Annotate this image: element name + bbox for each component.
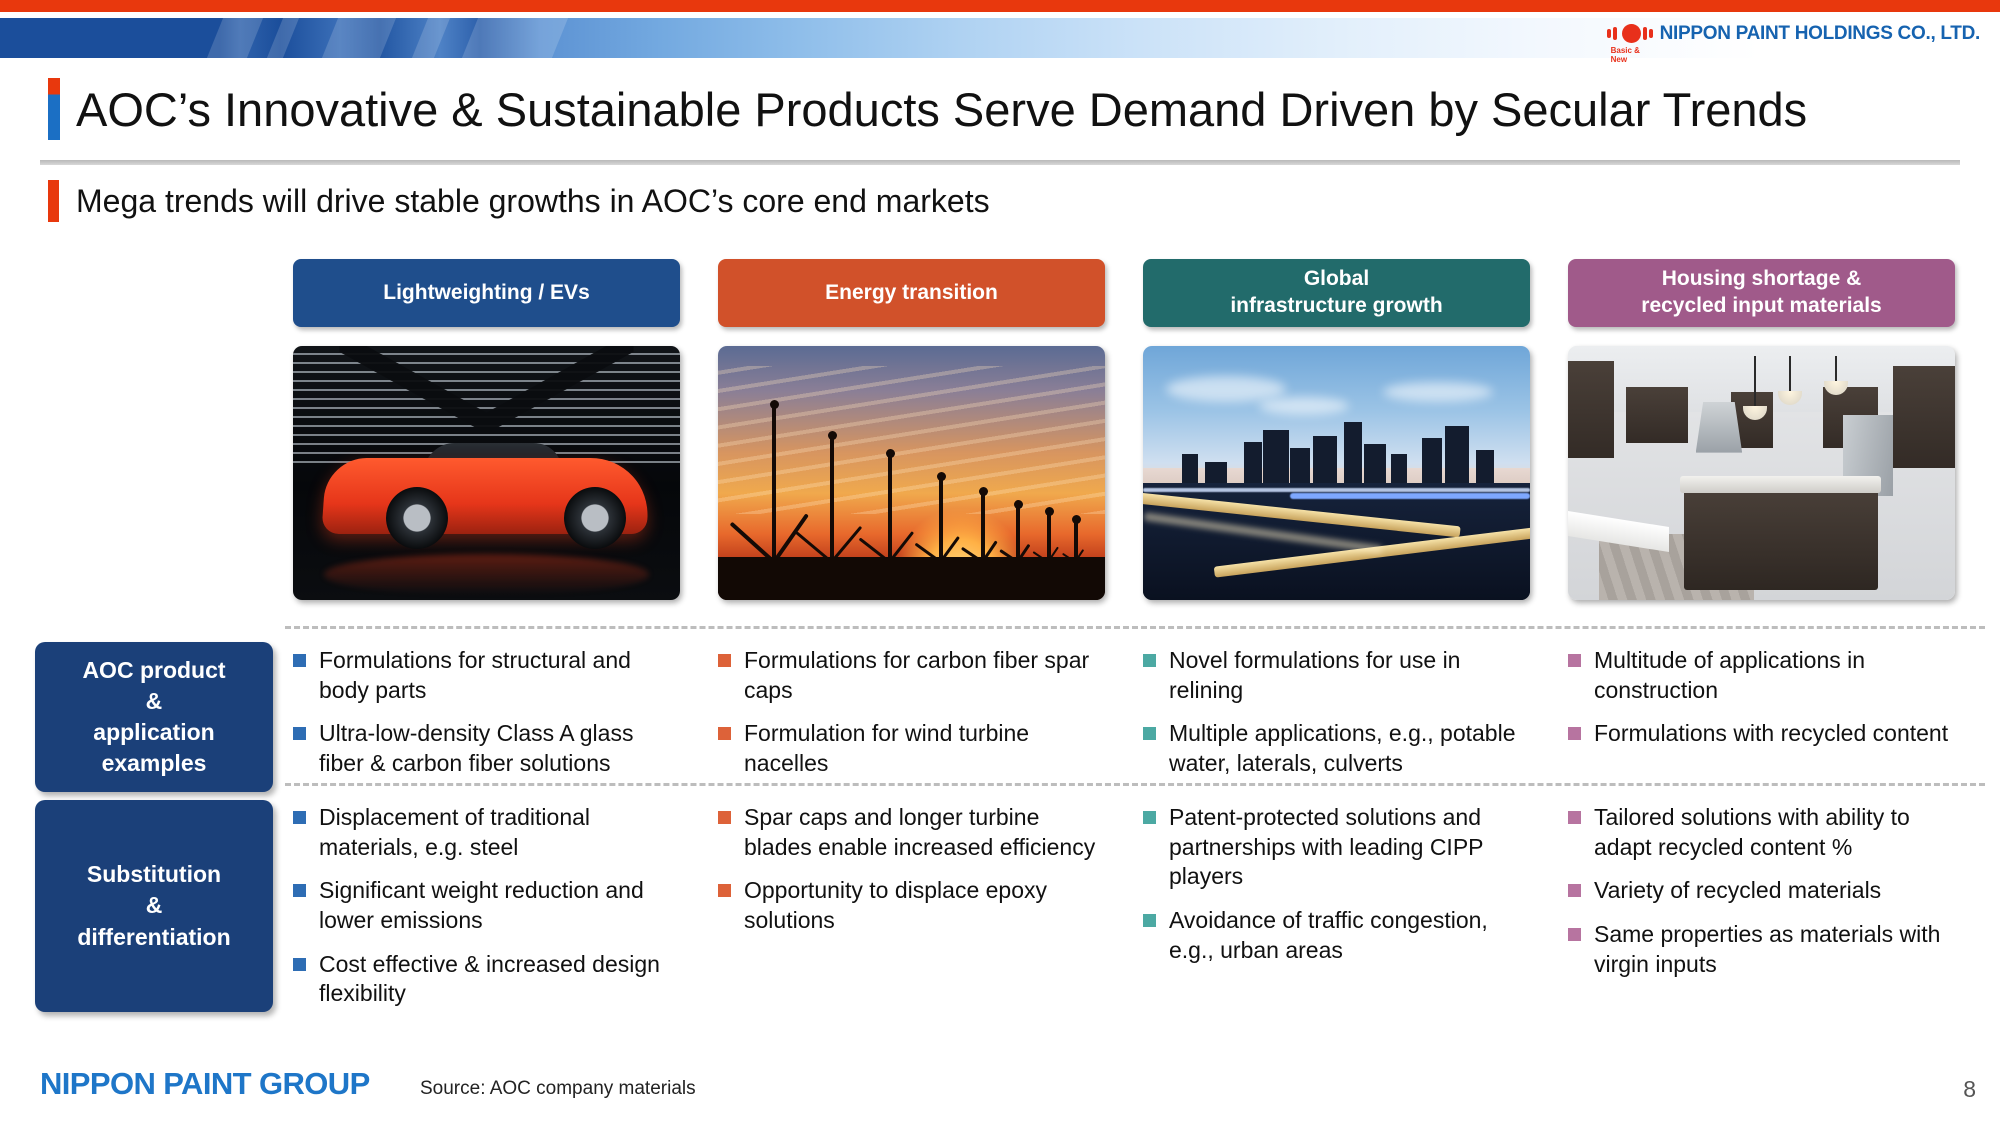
list-item: Formulations with recycled content xyxy=(1568,719,1955,749)
bullet-text: Opportunity to displace epoxy solutions xyxy=(744,876,1105,935)
bullet-text: Formulations with recycled content xyxy=(1594,719,1948,749)
title-text: AOC’s Innovative & Sustainable Products … xyxy=(76,82,1807,137)
column-lightweighting-evs: Lightweighting / EVs xyxy=(293,259,680,600)
bullet-text: Patent-protected solutions and partnersh… xyxy=(1169,803,1530,892)
page-title: AOC’s Innovative & Sustainable Products … xyxy=(48,78,1807,140)
list-item: Displacement of traditional materials, e… xyxy=(293,803,680,862)
list-item: Spar caps and longer turbine blades enab… xyxy=(718,803,1105,862)
page-subtitle: Mega trends will drive stable growths in… xyxy=(48,180,990,222)
list-item: Cost effective & increased design flexib… xyxy=(293,950,680,1009)
bullet-square-icon xyxy=(293,884,306,897)
photo-city-skyline-bridges xyxy=(1143,346,1530,600)
bullet-text: Variety of recycled materials xyxy=(1594,876,1881,906)
list-item: Patent-protected solutions and partnersh… xyxy=(1143,803,1530,892)
row-product-examples: Formulations for structural and body par… xyxy=(293,646,1983,793)
title-divider xyxy=(40,160,1960,165)
bullet-text: Avoidance of traffic congestion, e.g., u… xyxy=(1169,906,1530,965)
title-accent-bar xyxy=(48,78,60,140)
row-label-substitution: Substitution & differentiation xyxy=(35,800,273,1012)
bullet-text: Cost effective & increased design flexib… xyxy=(319,950,680,1009)
list-item: Formulations for structural and body par… xyxy=(293,646,680,705)
bullet-text: Ultra-low-density Class A glass fiber & … xyxy=(319,719,680,778)
bullet-list-products-3: Novel formulations for use in relining M… xyxy=(1143,646,1530,779)
footer-logo: NIPPON PAINT GROUP xyxy=(40,1066,370,1102)
list-item: Variety of recycled materials xyxy=(1568,876,1955,906)
category-header-3[interactable]: Global infrastructure growth xyxy=(1143,259,1530,327)
bullet-square-icon xyxy=(293,727,306,740)
bullet-square-icon xyxy=(1568,884,1581,897)
divider-row-1 xyxy=(285,626,1985,629)
list-item: Opportunity to displace epoxy solutions xyxy=(718,876,1105,935)
category-columns: Lightweighting / EVs Energy transition xyxy=(293,259,1983,600)
category-header-2[interactable]: Energy transition xyxy=(718,259,1105,327)
photo-red-sports-car xyxy=(293,346,680,600)
bullet-square-icon xyxy=(293,811,306,824)
column-global-infrastructure: Global infrastructure growth xyxy=(1143,259,1530,600)
bullet-text: Formulations for carbon fiber spar caps xyxy=(744,646,1105,705)
logo-tagline: Basic & New xyxy=(1611,46,1653,64)
subtitle-text: Mega trends will drive stable growths in… xyxy=(76,183,990,220)
top-red-bar xyxy=(0,0,2000,12)
band-stripe-decoration xyxy=(0,18,640,58)
bullet-text: Tailored solutions with ability to adapt… xyxy=(1594,803,1955,862)
row-label-aoc-product: AOC product & application examples xyxy=(35,642,273,792)
bullet-square-icon xyxy=(718,727,731,740)
list-item: Ultra-low-density Class A glass fiber & … xyxy=(293,719,680,778)
list-item: Tailored solutions with ability to adapt… xyxy=(1568,803,1955,862)
bullet-text: Formulations for structural and body par… xyxy=(319,646,680,705)
page-number: 8 xyxy=(1963,1076,1976,1103)
bullet-list-subst-3: Patent-protected solutions and partnersh… xyxy=(1143,803,1530,965)
nippon-paint-mark-icon: Basic & New xyxy=(1607,22,1653,46)
company-logo: Basic & New NIPPON PAINT HOLDINGS CO., L… xyxy=(1607,22,1980,46)
bullet-text: Spar caps and longer turbine blades enab… xyxy=(744,803,1105,862)
list-item: Formulations for carbon fiber spar caps xyxy=(718,646,1105,705)
logo-text: NIPPON PAINT HOLDINGS CO., LTD. xyxy=(1660,23,1980,45)
bullet-square-icon xyxy=(718,654,731,667)
row-label-1-text: AOC product & application examples xyxy=(82,655,225,779)
bullet-square-icon xyxy=(1143,914,1156,927)
list-item: Same properties as materials with virgin… xyxy=(1568,920,1955,979)
source-note: Source: AOC company materials xyxy=(420,1078,696,1100)
bullet-list-subst-4: Tailored solutions with ability to adapt… xyxy=(1568,803,1955,979)
list-item: Multiple applications, e.g., potable wat… xyxy=(1143,719,1530,778)
bullet-text: Same properties as materials with virgin… xyxy=(1594,920,1955,979)
bullet-square-icon xyxy=(1143,811,1156,824)
photo-modern-kitchen xyxy=(1568,346,1955,600)
subtitle-accent-bar xyxy=(48,180,59,222)
bullet-text: Multiple applications, e.g., potable wat… xyxy=(1169,719,1530,778)
bullet-square-icon xyxy=(1568,811,1581,824)
bullet-square-icon xyxy=(293,654,306,667)
bullet-square-icon xyxy=(1143,727,1156,740)
photo-wind-turbines xyxy=(718,346,1105,600)
column-energy-transition: Energy transition xyxy=(718,259,1105,600)
bullet-square-icon xyxy=(718,811,731,824)
category-header-1[interactable]: Lightweighting / EVs xyxy=(293,259,680,327)
bullet-list-products-2: Formulations for carbon fiber spar caps … xyxy=(718,646,1105,779)
bullet-text: Formulation for wind turbine nacelles xyxy=(744,719,1105,778)
list-item: Significant weight reduction and lower e… xyxy=(293,876,680,935)
bullet-list-subst-2: Spar caps and longer turbine blades enab… xyxy=(718,803,1105,936)
bullet-square-icon xyxy=(293,958,306,971)
list-item: Multitude of applications in constructio… xyxy=(1568,646,1955,705)
list-item: Formulation for wind turbine nacelles xyxy=(718,719,1105,778)
bullet-list-subst-1: Displacement of traditional materials, e… xyxy=(293,803,680,1009)
bullet-list-products-1: Formulations for structural and body par… xyxy=(293,646,680,779)
bullet-square-icon xyxy=(718,884,731,897)
row-substitution-differentiation: Displacement of traditional materials, e… xyxy=(293,803,1983,1023)
column-housing-shortage: Housing shortage & recycled input materi… xyxy=(1568,259,1955,600)
category-header-4[interactable]: Housing shortage & recycled input materi… xyxy=(1568,259,1955,327)
row-label-2-text: Substitution & differentiation xyxy=(77,859,230,952)
bullet-text: Displacement of traditional materials, e… xyxy=(319,803,680,862)
bullet-list-products-4: Multitude of applications in constructio… xyxy=(1568,646,1955,749)
bullet-square-icon xyxy=(1568,654,1581,667)
bullet-text: Novel formulations for use in relining xyxy=(1169,646,1530,705)
bullet-square-icon xyxy=(1143,654,1156,667)
bullet-text: Multitude of applications in constructio… xyxy=(1594,646,1955,705)
bullet-square-icon xyxy=(1568,928,1581,941)
list-item: Novel formulations for use in relining xyxy=(1143,646,1530,705)
bullet-square-icon xyxy=(1568,727,1581,740)
bullet-text: Significant weight reduction and lower e… xyxy=(319,876,680,935)
list-item: Avoidance of traffic congestion, e.g., u… xyxy=(1143,906,1530,965)
